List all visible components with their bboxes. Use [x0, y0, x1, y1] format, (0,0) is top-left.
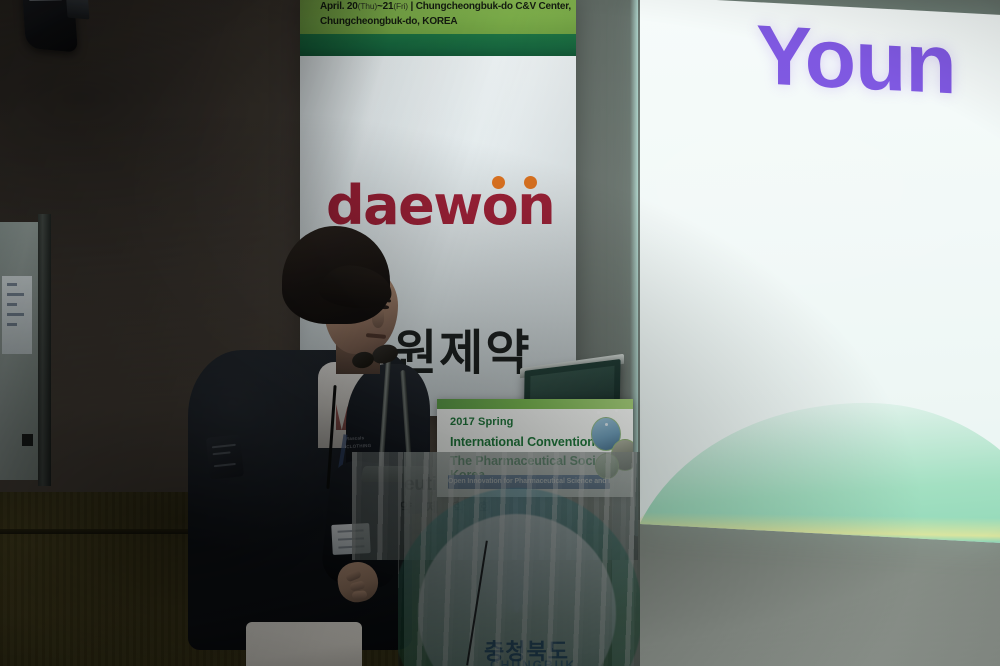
daewon-dot-icon: [524, 176, 537, 189]
podium-acrylic-slats: [398, 452, 640, 666]
ceiling-mount-bracket: [66, 0, 89, 19]
conference-photo-scene: April. 20(Thu)~21(Fri) | Chungcheongbuk-…: [0, 0, 1000, 666]
slide-title-text: Youn: [756, 8, 1000, 122]
projection-screen: Youn S: [640, 0, 1000, 543]
banner-green-header: April. 20(Thu)~21(Fri) | Chungcheongbuk-…: [300, 0, 576, 34]
projected-slide: Youn S: [640, 0, 1000, 543]
left-panel-edge: [38, 214, 51, 486]
panel-knob: [22, 434, 33, 446]
presenter-undershirt: [246, 622, 362, 666]
sign-line-1: 2017 Spring: [450, 416, 513, 428]
banner-location-line: Chungcheongbuk-do, KOREA: [320, 14, 562, 29]
banner-dark-bar: [300, 34, 576, 56]
wall-lower-right: [610, 520, 1000, 666]
banner-date-line: April. 20(Thu)~21(Fri) | Chungcheongbuk-…: [320, 0, 562, 14]
posted-notice: [2, 276, 32, 354]
sign-line-2: International Convention of: [450, 435, 610, 449]
ceiling-speaker-icon: [22, 0, 78, 53]
jacket-sleeve-patch: [206, 434, 244, 479]
ceiling-speaker-stripe: [28, 0, 62, 1]
daewon-dot-icon: [492, 176, 505, 189]
